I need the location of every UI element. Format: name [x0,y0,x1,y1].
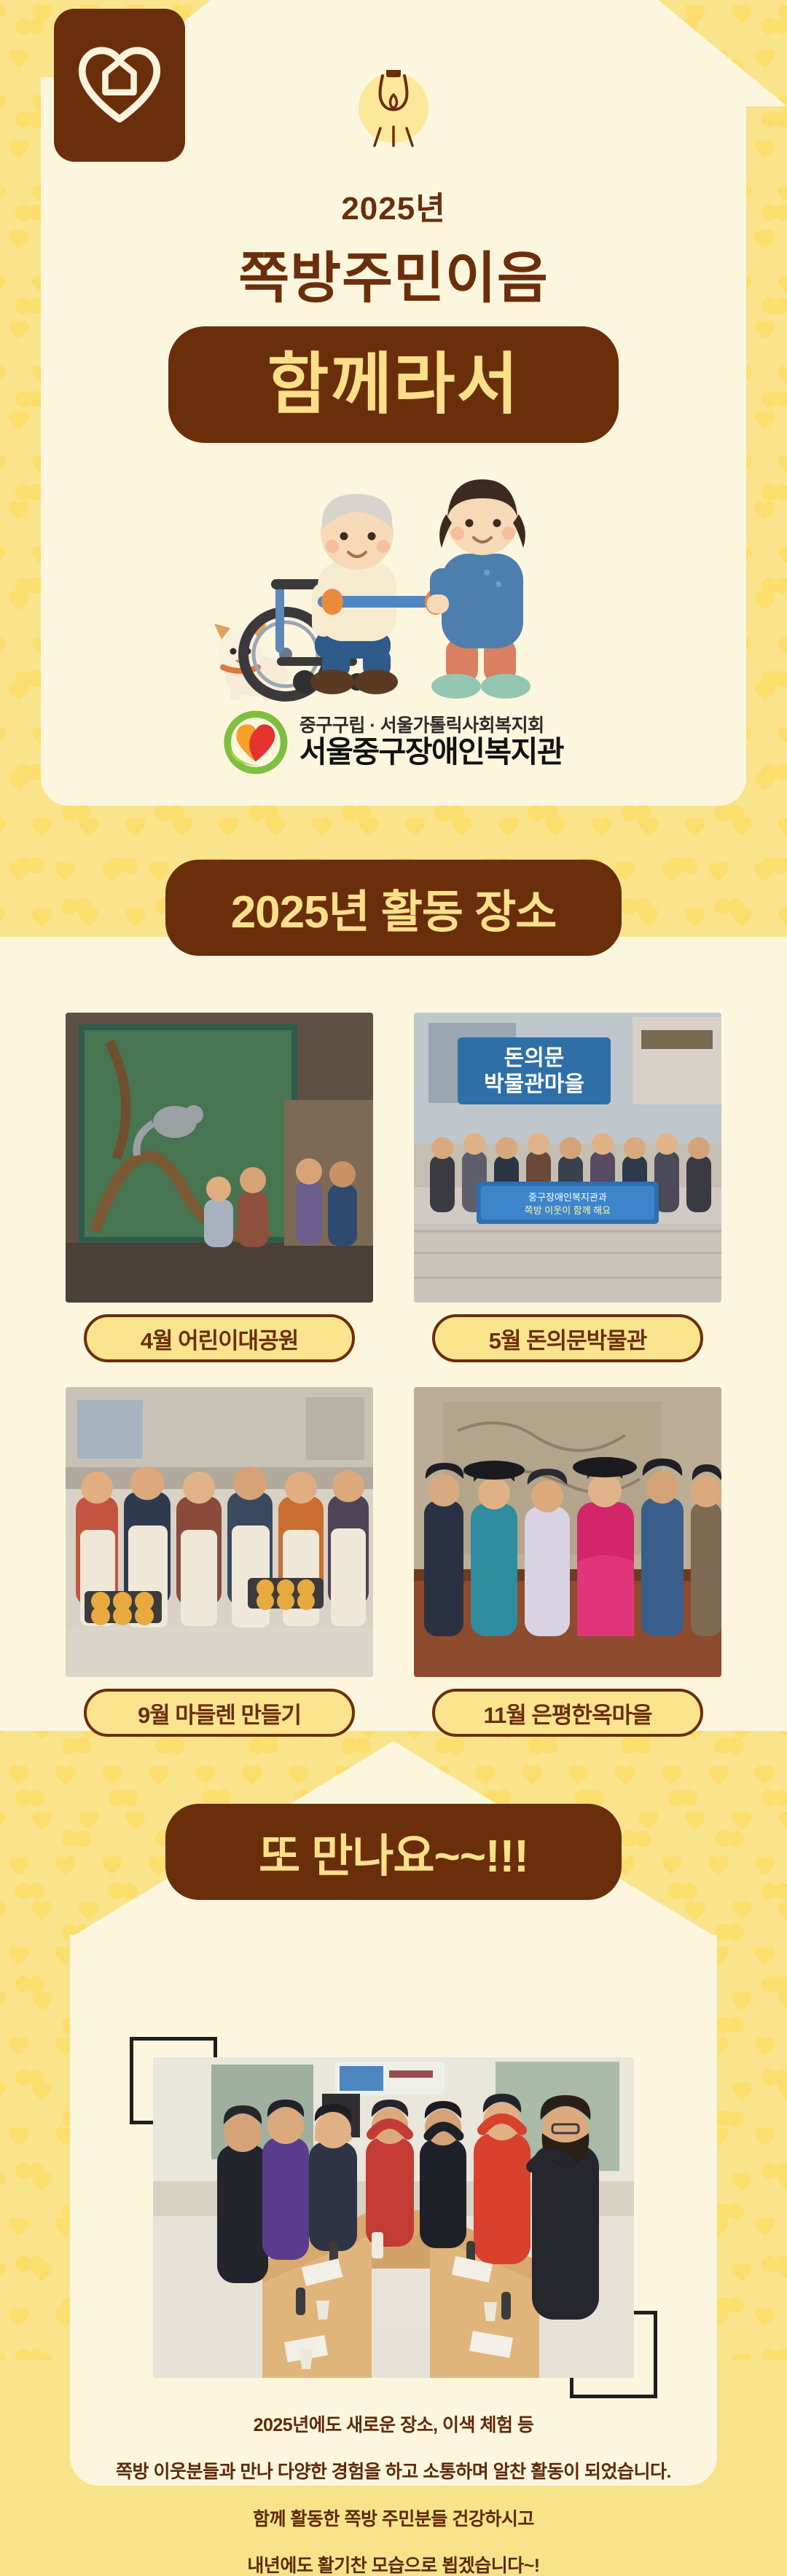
place-caption: 5월 돈의문박물관 [432,1314,703,1362]
framed-photo [153,2057,634,2378]
organization-logo: 중구구립 · 서울가톨릭사회복지회 서울중구장애인복지관 [224,710,563,774]
place-caption-text: 9월 마들렌 만들기 [138,1697,301,1729]
place-photo: 돈의문 박물관마을 [414,1013,721,1303]
organization-name: 서울중구장애인복지관 [299,736,563,769]
farewell-section: 또 만나요~~!!! [0,1804,787,2575]
eunpyeong-hanok-village-hanbok-photo [414,1387,721,1677]
lightbulb-icon [342,70,445,194]
place-card[interactable]: 11월 은평한옥마을 [414,1387,721,1737]
hero-slogan-text: 함께라서 [267,351,520,418]
elderly-man-figure [310,494,447,694]
closing-line: 함께 활동한 쪽방 주민분들 건강하시고 [66,2510,721,2529]
children-grand-park-zoo-visit-photo [66,1013,373,1303]
place-caption: 9월 마들렌 만들기 [84,1689,355,1737]
svg-text:쪽방 이웃이 함께 해요: 쪽방 이웃이 함께 해요 [525,1205,611,1216]
closing-message: 2025년에도 새로운 장소, 이색 체험 등 쪽방 이웃분들과 만나 다양한 … [66,2416,721,2575]
place-caption: 11월 은평한옥마을 [432,1689,703,1737]
svg-text:중구장애인복지관과: 중구장애인복지관과 [528,1192,607,1203]
donuimun-museum-village-group-photo: 돈의문 박물관마을 [414,1013,721,1303]
wheelchair-caregiver-illustration [189,466,598,707]
hero-program-name: 쪽방주민이음 [0,233,787,313]
place-photo [414,1387,721,1677]
svg-text:돈의문: 돈의문 [504,1046,565,1070]
place-photo [66,1387,373,1677]
place-card[interactable]: 4월 어린이대공원 [66,1013,373,1362]
farewell-banner: 또 만나요~~!!! [165,1804,622,1900]
place-caption-text: 4월 어린이대공원 [141,1322,299,1355]
group-photo [153,2057,634,2378]
place-caption: 4월 어린이대공원 [84,1314,355,1362]
lightbulb-decoration [342,70,445,197]
place-card[interactable]: 돈의문 박물관마을 [414,1013,721,1362]
places-photo-grid: 4월 어린이대공원 돈의문 박물관마을 [66,1013,721,1737]
madeleine-baking-class-photo [66,1387,373,1677]
places-banner: 2025년 활동 장소 [165,860,622,956]
place-photo [66,1013,373,1303]
place-caption-text: 11월 은평한옥마을 [483,1697,651,1729]
brand-logo-badge[interactable] [54,9,185,162]
places-banner-text: 2025년 활동 장소 [231,875,557,941]
place-caption-text: 5월 돈의문박물관 [489,1322,647,1355]
activity-places-section: 2025년 활동 장소 [0,860,787,1737]
hero-year: 2025년 [0,182,787,229]
organization-affiliation: 중구구립 · 서울가톨릭사회복지회 [299,715,563,736]
closing-line: 내년에도 활기찬 모습으로 뵙겠습니다~! [66,2556,721,2575]
closing-line: 쪽방 이웃분들과 만나 다양한 경험을 하고 소통하며 알찬 활동이 되었습니다… [66,2462,721,2481]
heart-house-icon [75,41,164,130]
group-meeting-around-tables-photo [153,2057,634,2378]
place-card[interactable]: 9월 마들렌 만들기 [66,1387,373,1737]
heart-leaf-circle-logo [224,710,288,774]
caregiver-figure [427,479,530,699]
farewell-banner-text: 또 만나요~~!!! [259,1819,528,1885]
hero-section: 2025년 쪽방주민이음 함께라서 [0,0,787,860]
svg-text:박물관마을: 박물관마을 [484,1072,584,1096]
closing-line: 2025년에도 새로운 장소, 이색 체험 등 [66,2416,721,2435]
hero-slogan-badge: 함께라서 [168,326,619,443]
